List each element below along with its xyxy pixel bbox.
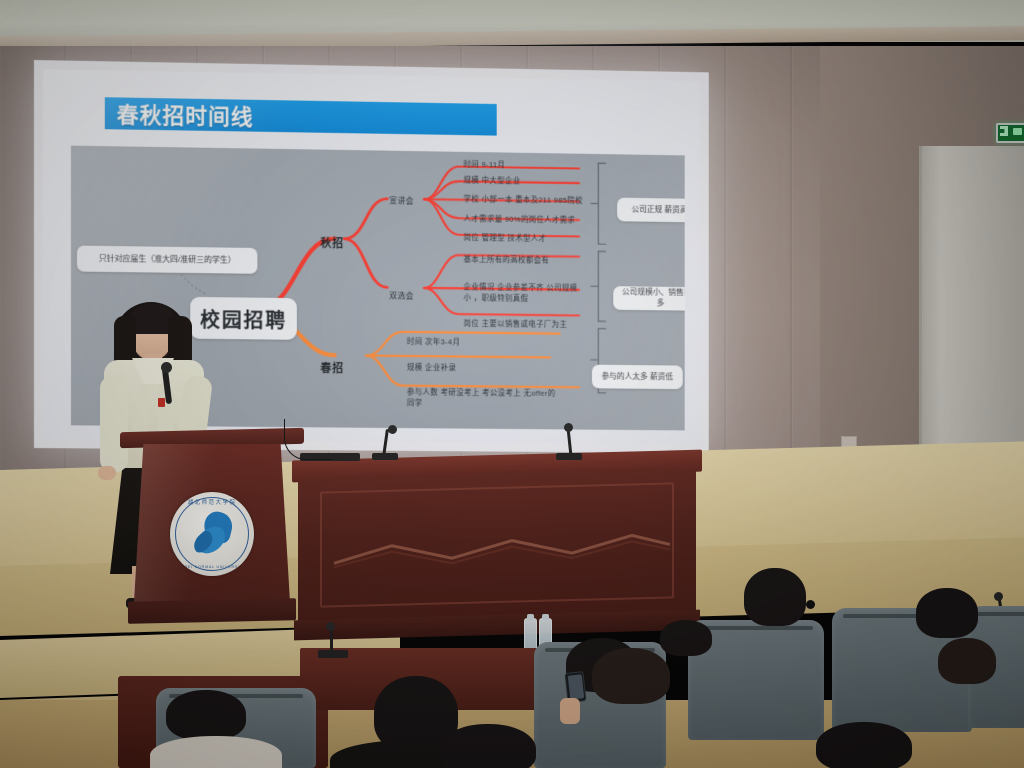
leaf-spring-3: 参与人数 考研没考上 考公没考上 无offer的同学 — [407, 387, 561, 410]
emblem-bottom-text: HUBEI NORMAL UNIVERSITY — [170, 565, 254, 569]
wire-autumn-fair1 — [344, 198, 387, 239]
leaf-autumn-4: 人才需求量 90%的岗位人才需求 — [464, 213, 576, 225]
leaf-fair-1: 基本上所有的高校都会有 — [464, 254, 550, 266]
slide-title-banner: 春秋招时间线 — [105, 97, 497, 135]
table-mic-head-1 — [388, 425, 397, 434]
audience-head-front-2 — [166, 690, 246, 740]
audience-head-5 — [660, 620, 712, 656]
leaf-autumn-1: 时间 9-11月 — [464, 159, 506, 171]
audience-head-front-4 — [816, 722, 912, 768]
university-emblem: 湖北师范大学院 HUBEI NORMAL UNIVERSITY — [170, 492, 254, 576]
presenter-hand-left — [98, 466, 116, 480]
callout-autumn-fair: 公司规模小、销售招的多 — [613, 286, 684, 311]
audience-head-2 — [916, 588, 978, 638]
group-label-info-session: 宣讲会 — [389, 195, 414, 207]
exit-running-man-icon — [1000, 126, 1008, 136]
emblem-swan-icon — [192, 512, 234, 556]
callout-spring: 参与的人太多 薪资低 — [592, 365, 683, 389]
callout-autumn-info: 公司正规 薪资高 — [617, 198, 685, 223]
lectern-podium: 湖北师范大学院 HUBEI NORMAL UNIVERSITY — [126, 430, 298, 630]
front-desk-mic-base — [318, 650, 348, 658]
right-mic-head — [994, 592, 1003, 601]
slide-title-text: 春秋招时间线 — [117, 97, 254, 131]
conference-table — [292, 455, 702, 651]
lecture-hall-photo: 春秋招时间线 — [0, 0, 1024, 768]
audience-head-1 — [744, 568, 806, 626]
leaf-fair-3: 岗位 主要以销售或电子厂为主 — [464, 318, 568, 330]
branch-label-autumn: 秋招 — [321, 235, 345, 251]
audience-head-front-5 — [592, 648, 670, 704]
leaf-autumn-2: 规模 中大型企业 — [464, 175, 521, 187]
exit-arrow-icon — [1013, 128, 1022, 135]
branch-label-spring: 春招 — [321, 360, 345, 376]
podium-base — [128, 598, 296, 624]
table-mic-head-2 — [564, 423, 573, 432]
leaf-autumn-5: 岗位 管理型 技术型人才 — [464, 232, 547, 244]
table-mic-base-1 — [372, 453, 398, 460]
audience-earpiece-1 — [806, 600, 815, 609]
presenter-arm-left — [100, 376, 128, 472]
presenter-lapel-badge — [158, 398, 165, 407]
front-desk-mic-head — [326, 622, 335, 631]
leaf-autumn-3: 学校 小部一本 重本及211 985院校 — [464, 193, 583, 206]
table-front-panel — [298, 468, 696, 626]
mindmap-side-note: 只针对应届生（准大四/准研三的学生） — [77, 246, 258, 274]
leaf-fair-2: 企业情况 企业参差不齐 公司规模小 ，职级特别真假 — [464, 281, 585, 304]
group-label-job-fair: 双选会 — [389, 290, 414, 302]
leaf-spring-2: 规模 企业补录 — [407, 362, 456, 373]
mic-cable-1 — [284, 419, 333, 460]
audience-hand — [560, 698, 580, 724]
audience-head-4 — [938, 638, 996, 684]
audience-shoulder-front-2 — [150, 736, 282, 768]
table-mic-base-2 — [556, 453, 582, 460]
emblem-top-text: 湖北师范大学院 — [170, 498, 254, 506]
microphone-head-icon — [161, 362, 172, 373]
wire-autumn-fair2 — [344, 239, 387, 288]
leaf-spring-1: 时间 次年3-4月 — [407, 336, 460, 347]
audience-head-front-3 — [440, 724, 536, 768]
emergency-exit-sign — [996, 123, 1024, 143]
